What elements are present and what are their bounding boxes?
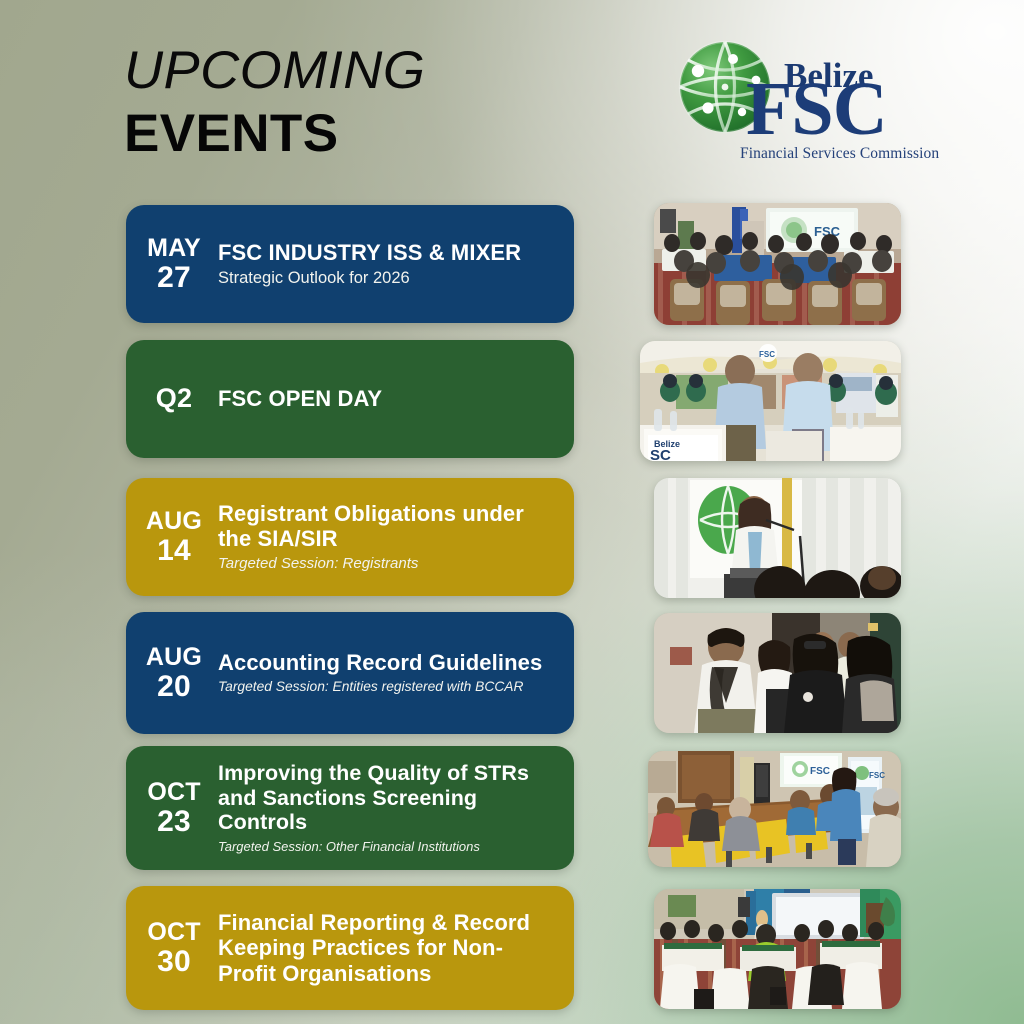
event-date-badge: OCT 23 xyxy=(130,779,218,837)
event-date-badge: AUG 14 xyxy=(130,508,218,566)
event-subtitle: Strategic Outlook for 2026 xyxy=(218,269,560,289)
event-title: FSC OPEN DAY xyxy=(218,386,560,411)
event-title: Financial Reporting & Record Keeping Pra… xyxy=(218,910,560,985)
event-day: 27 xyxy=(130,262,218,293)
event-photo-1: FSC xyxy=(654,203,901,325)
event-day: 30 xyxy=(130,946,218,977)
event-subtitle: Targeted Session: Other Financial Instit… xyxy=(218,839,560,855)
event-day: 20 xyxy=(130,671,218,702)
event-day: 23 xyxy=(130,806,218,837)
event-month: MAY xyxy=(130,235,218,261)
event-title: Registrant Obligations under the SIA/SIR xyxy=(218,501,560,551)
event-photo-6 xyxy=(654,889,901,1009)
event-text: Registrant Obligations under the SIA/SIR… xyxy=(218,501,574,573)
event-card-1[interactable]: MAY 27 FSC INDUSTRY ISS & MIXER Strategi… xyxy=(126,205,574,323)
event-date-badge: AUG 20 xyxy=(130,644,218,702)
svg-text:SC: SC xyxy=(650,447,671,461)
event-card-2[interactable]: Q2 FSC OPEN DAY xyxy=(126,340,574,458)
event-card-4[interactable]: AUG 20 Accounting Record Guidelines Targ… xyxy=(126,612,574,734)
event-subtitle: Targeted Session: Entities registered wi… xyxy=(218,679,560,696)
event-date-badge: OCT 30 xyxy=(130,919,218,977)
svg-text:FSC: FSC xyxy=(869,771,885,780)
svg-text:FSC: FSC xyxy=(810,766,830,777)
event-photo-4 xyxy=(654,613,901,733)
event-month: AUG xyxy=(130,644,218,670)
event-text: Improving the Quality of STRs and Sancti… xyxy=(218,761,574,854)
event-title: Accounting Record Guidelines xyxy=(218,650,560,675)
event-month: OCT xyxy=(130,779,218,805)
event-month: OCT xyxy=(130,919,218,945)
event-day: 14 xyxy=(130,535,218,566)
event-title: FSC INDUSTRY ISS & MIXER xyxy=(218,240,560,265)
event-card-5[interactable]: OCT 23 Improving the Quality of STRs and… xyxy=(126,746,574,870)
event-card-3[interactable]: AUG 14 Registrant Obligations under the … xyxy=(126,478,574,596)
event-month: Q2 xyxy=(130,384,218,412)
events-list: MAY 27 FSC INDUSTRY ISS & MIXER Strategi… xyxy=(0,0,1024,1024)
event-text: FSC OPEN DAY xyxy=(218,386,574,411)
event-photo-3 xyxy=(654,478,901,598)
event-date-badge: MAY 27 xyxy=(130,235,218,293)
event-photo-5: FSC FSC xyxy=(648,751,901,867)
event-month: AUG xyxy=(130,508,218,534)
event-text: Accounting Record Guidelines Targeted Se… xyxy=(218,650,574,696)
event-photo-2: FSC xyxy=(640,341,901,461)
event-text: FSC INDUSTRY ISS & MIXER Strategic Outlo… xyxy=(218,240,574,289)
event-subtitle: Targeted Session: Registrants xyxy=(218,555,560,573)
event-title: Improving the Quality of STRs and Sancti… xyxy=(218,761,560,835)
event-text: Financial Reporting & Record Keeping Pra… xyxy=(218,910,574,985)
event-date-badge: Q2 xyxy=(130,384,218,413)
svg-text:FSC: FSC xyxy=(759,350,775,359)
event-card-6[interactable]: OCT 30 Financial Reporting & Record Keep… xyxy=(126,886,574,1010)
